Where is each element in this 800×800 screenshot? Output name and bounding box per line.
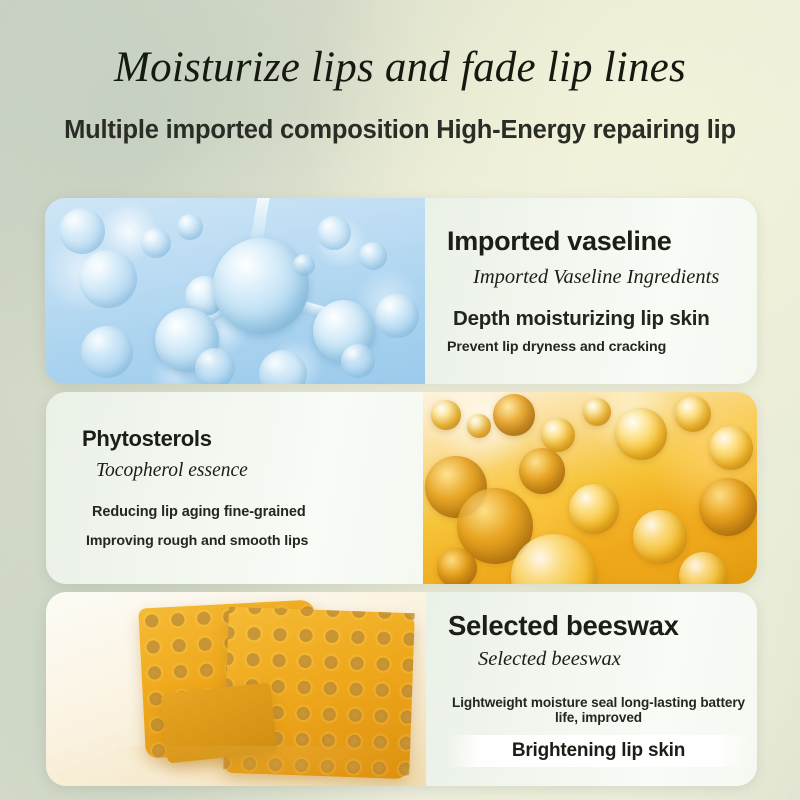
oil-bubble xyxy=(633,510,687,564)
page-subtitle: Multiple imported composition High-Energ… xyxy=(0,116,800,145)
card-highlight-text: Brightening lip skin xyxy=(512,740,685,761)
card-heading: Imported vaseline xyxy=(447,227,743,257)
oil-bubble xyxy=(493,394,535,436)
molecule-atom-center xyxy=(213,238,309,334)
oil-bubble xyxy=(615,408,667,460)
water-molecule-bubbles-photo xyxy=(45,198,425,384)
card-detail-line: Lightweight moisture seal long-lasting b… xyxy=(448,695,749,725)
ingredient-card-imported-vaseline: Imported vaseline Imported Vaseline Ingr… xyxy=(45,198,757,384)
oil-bubble xyxy=(467,414,491,438)
bubble-decoration xyxy=(177,214,203,240)
oil-bubble xyxy=(519,448,565,494)
page-title: Moisturize lips and fade lip lines xyxy=(0,46,800,89)
bubble-decoration xyxy=(141,228,171,258)
oil-bubble xyxy=(709,426,753,470)
oil-bubble xyxy=(541,418,575,452)
bubble-decoration xyxy=(293,254,315,276)
honey-pool-shadow xyxy=(116,746,416,786)
bubble-decoration xyxy=(79,250,137,308)
card-script-line: Imported Vaseline Ingredients xyxy=(473,266,743,289)
bubble-decoration xyxy=(359,242,387,270)
card-text-panel: Phytosterols Tocopherol essence Reducing… xyxy=(46,392,423,584)
infographic-page: Moisturize lips and fade lip lines Multi… xyxy=(0,0,800,800)
bubble-decoration xyxy=(195,348,235,384)
card-text-panel: Imported vaseline Imported Vaseline Ingr… xyxy=(425,198,757,384)
bubble-decoration xyxy=(341,344,375,378)
card-heading: Selected beeswax xyxy=(448,611,749,641)
honeycomb-photo xyxy=(46,592,426,786)
card-script-line: Selected beeswax xyxy=(478,648,749,671)
ingredient-card-phytosterols: Phytosterols Tocopherol essence Reducing… xyxy=(46,392,757,584)
highlight-band: Brightening lip skin xyxy=(448,735,749,767)
bubble-decoration xyxy=(259,350,307,384)
oil-bubble xyxy=(675,396,711,432)
bubble-decoration xyxy=(375,294,419,338)
card-script-line: Tocopherol essence xyxy=(96,460,413,482)
oil-bubble xyxy=(699,478,757,536)
bubble-decoration xyxy=(317,216,351,250)
ingredient-card-selected-beeswax: Selected beeswax Selected beeswax Lightw… xyxy=(46,592,757,786)
card-text-panel: Selected beeswax Selected beeswax Lightw… xyxy=(426,592,757,786)
card-heading: Phytosterols xyxy=(82,427,413,451)
bubble-decoration xyxy=(59,208,105,254)
oil-bubble xyxy=(437,548,477,584)
oil-bubble xyxy=(583,398,611,426)
oil-bubble xyxy=(679,552,727,584)
header-block: Moisturize lips and fade lip lines Multi… xyxy=(0,0,800,145)
bubble-decoration xyxy=(81,326,133,378)
card-detail-line: Prevent lip dryness and cracking xyxy=(447,339,743,355)
card-detail-line: Improving rough and smooth lips xyxy=(86,533,413,549)
golden-oil-bubbles-photo xyxy=(423,392,757,584)
oil-bubble xyxy=(431,400,461,430)
oil-bubble xyxy=(569,484,619,534)
card-sub-heading: Depth moisturizing lip skin xyxy=(453,307,743,331)
card-detail-line: Reducing lip aging fine-grained xyxy=(92,504,413,520)
